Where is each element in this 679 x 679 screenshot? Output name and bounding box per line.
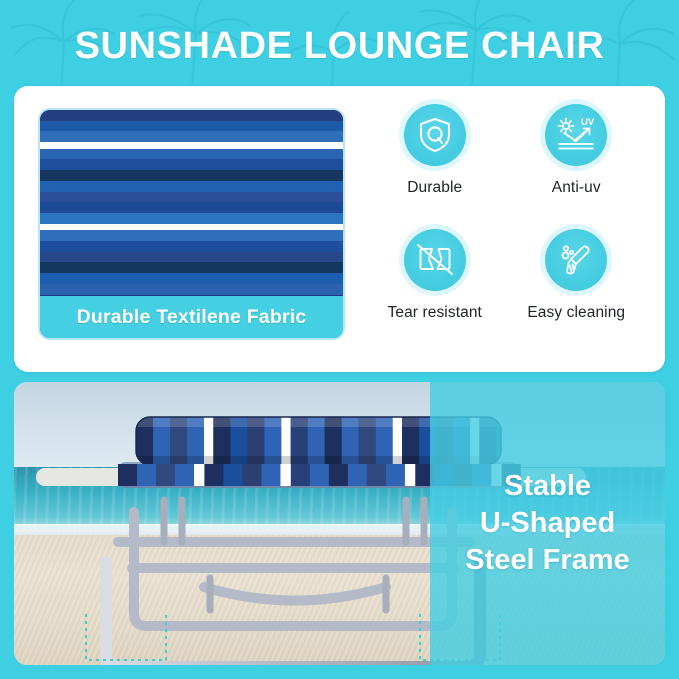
cushion-stripe — [291, 464, 310, 486]
cushion-stripe — [223, 464, 242, 486]
fabric-stripe — [40, 181, 343, 192]
cushion-stripe — [310, 464, 329, 486]
cleaning-brush-icon — [545, 229, 607, 291]
cushion-stripe — [118, 464, 137, 486]
feature-label: Tear resistant — [388, 304, 482, 322]
cushion-stripe — [367, 464, 386, 486]
overlay-line-2: U-Shaped — [480, 505, 615, 542]
page-title: SUNSHADE LOUNGE CHAIR — [75, 27, 605, 65]
feature-easy-cleaning[interactable]: Easy cleaning — [506, 229, 648, 354]
torn-fabric-slash-icon — [404, 229, 466, 291]
feature-durable[interactable]: Durable — [364, 104, 506, 229]
product-photo-panel: Stable U-Shaped Steel Frame — [14, 382, 665, 665]
cushion-stripe — [386, 464, 405, 486]
fabric-stripe-pattern — [40, 110, 343, 296]
cushion-stripe — [137, 464, 156, 486]
fabric-stripe — [40, 241, 343, 252]
fabric-stripe — [40, 213, 343, 224]
cushion-stripe — [405, 464, 415, 486]
cushion-stripe — [175, 464, 194, 486]
fabric-stripe — [40, 170, 343, 181]
fabric-stripe — [40, 202, 343, 213]
feature-label: Durable — [407, 179, 462, 197]
fabric-stripe — [40, 284, 343, 295]
overlay-line-3: Steel Frame — [465, 542, 629, 579]
cushion-stripe — [329, 464, 348, 486]
fabric-stripe — [40, 192, 343, 203]
fabric-stripe — [40, 252, 343, 263]
cushion-stripe — [280, 464, 290, 486]
uv-icon-text: UV — [581, 117, 595, 128]
fabric-swatch-label: Durable Textilene Fabric — [40, 296, 343, 338]
fabric-stripe — [40, 110, 343, 121]
cushion-stripe — [261, 464, 280, 486]
sun-uv-reflect-icon: UV — [545, 104, 607, 166]
cushion-stripe — [242, 464, 261, 486]
fabric-stripe — [40, 262, 343, 273]
fabric-stripe — [40, 273, 343, 284]
overlay-line-1: Stable — [504, 468, 591, 505]
fabric-feature-card: Durable Textilene Fabric Durable — [14, 86, 665, 372]
cushion-stripe — [204, 464, 223, 486]
infographic-canvas: SUNSHADE LOUNGE CHAIR Durable Textilene … — [0, 0, 679, 679]
fabric-stripe — [40, 131, 343, 142]
cushion-stripe — [348, 464, 367, 486]
fabric-stripe — [40, 159, 343, 170]
feature-anti-uv[interactable]: UV Anti-uv — [506, 104, 648, 229]
feature-tear-resistant[interactable]: Tear resistant — [364, 229, 506, 354]
feature-grid: Durable — [364, 104, 647, 354]
fabric-stripe — [40, 230, 343, 241]
feature-label: Anti-uv — [552, 179, 601, 197]
feature-label: Easy cleaning — [527, 304, 625, 322]
header: SUNSHADE LOUNGE CHAIR — [0, 0, 679, 92]
fabric-stripe — [40, 121, 343, 132]
fabric-swatch-label-text: Durable Textilene Fabric — [77, 306, 307, 329]
photo-text-overlay: Stable U-Shaped Steel Frame — [430, 382, 665, 665]
fabric-swatch: Durable Textilene Fabric — [38, 108, 345, 340]
shield-q-icon — [404, 104, 466, 166]
fabric-stripe — [40, 149, 343, 160]
cushion-stripe — [156, 464, 175, 486]
cushion-stripe — [194, 464, 204, 486]
